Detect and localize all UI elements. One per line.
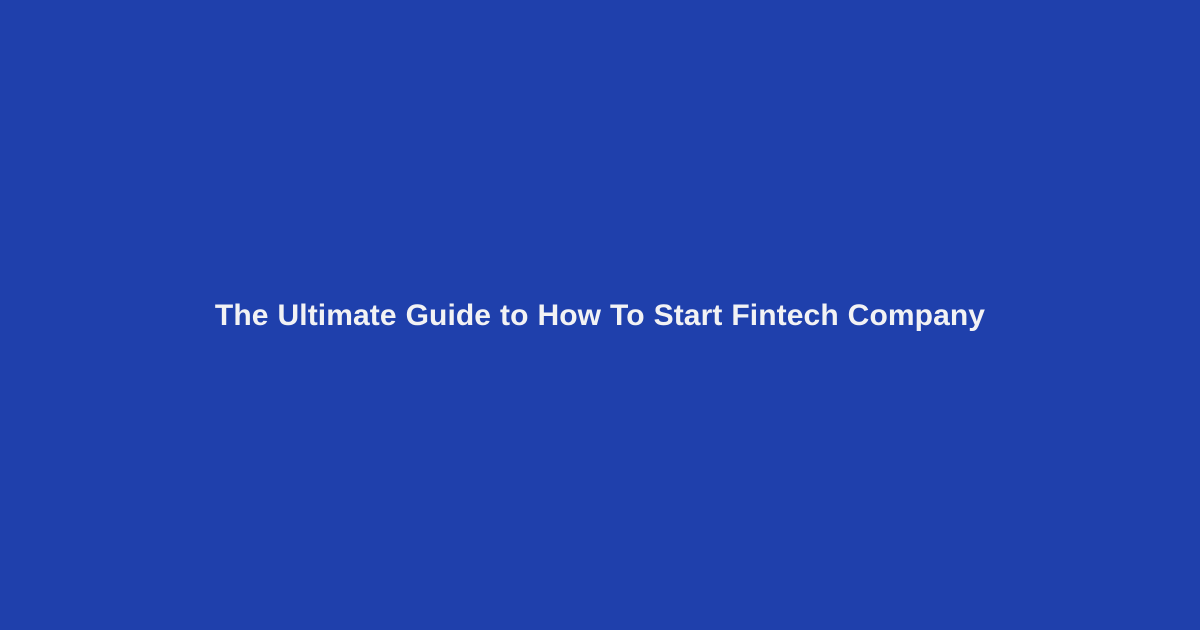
title-block: The Ultimate Guide to How To Start Finte… [70,296,1130,335]
share-card: The Ultimate Guide to How To Start Finte… [0,0,1200,630]
page-title: The Ultimate Guide to How To Start Finte… [215,296,985,335]
